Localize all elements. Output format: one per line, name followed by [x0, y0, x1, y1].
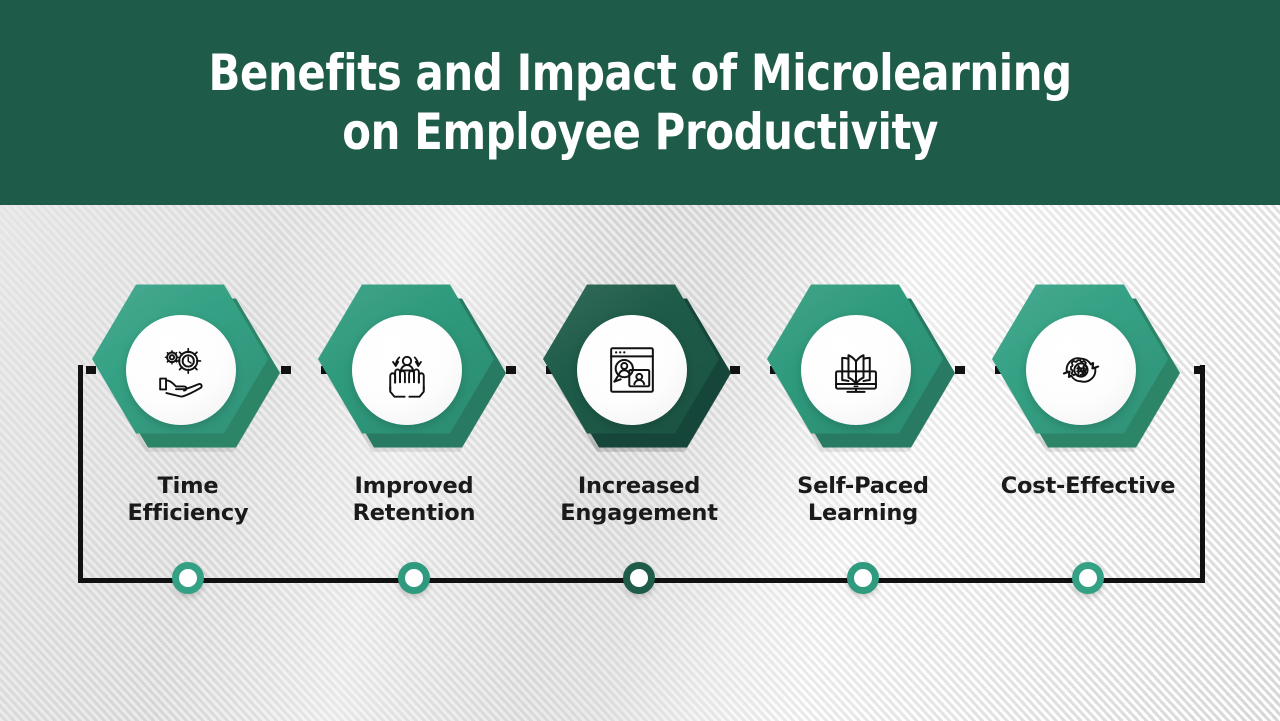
- step-label-1: Time Efficiency: [60, 473, 316, 526]
- timeline-dot-2[interactable]: [398, 562, 430, 594]
- diagram-stage: Time Efficiency: [0, 205, 1280, 721]
- hexagon-3[interactable]: [539, 283, 739, 455]
- icon-circle-5: [1026, 315, 1136, 425]
- icon-circle-3: [577, 315, 687, 425]
- hexagon-1[interactable]: [88, 283, 288, 455]
- hands-holding-person-refresh-icon: [378, 341, 436, 399]
- hexagon-4[interactable]: [763, 283, 963, 455]
- browser-window-users-icon: [603, 341, 661, 399]
- hand-holding-gears-clock-icon: [152, 341, 210, 399]
- step-label-3: Increased Engagement: [511, 473, 767, 526]
- hexagon-5[interactable]: [988, 283, 1188, 455]
- step-label-5: Cost-Effective: [960, 473, 1216, 500]
- icon-circle-2: [352, 315, 462, 425]
- header-banner: Benefits and Impact of Microlearning on …: [0, 0, 1280, 205]
- timeline-dot-5[interactable]: [1072, 562, 1104, 594]
- icon-circle-1: [126, 315, 236, 425]
- timeline-dot-3[interactable]: [623, 562, 655, 594]
- step-label-4: Self-Paced Learning: [735, 473, 991, 526]
- gear-naira-currency-cycle-icon: [1052, 341, 1110, 399]
- hexagon-2[interactable]: [314, 283, 514, 455]
- icon-circle-4: [801, 315, 911, 425]
- monitor-open-book-icon: [827, 341, 885, 399]
- timeline-dot-4[interactable]: [847, 562, 879, 594]
- timeline-dot-1[interactable]: [172, 562, 204, 594]
- page-title: Benefits and Impact of Microlearning on …: [208, 44, 1071, 161]
- step-label-2: Improved Retention: [286, 473, 542, 526]
